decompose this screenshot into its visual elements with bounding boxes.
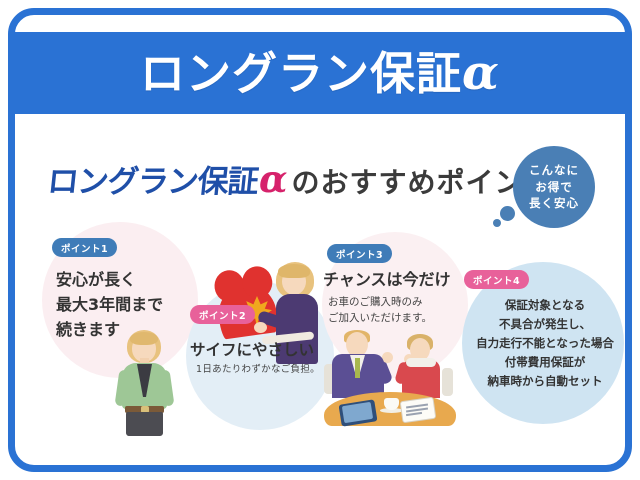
- skirt-shape: [126, 412, 163, 436]
- header-title: ロングラン保証α: [140, 49, 500, 97]
- point-4-badge: ポイント4: [464, 270, 529, 289]
- man-tie-shape: [355, 358, 360, 378]
- point-4-line-3: 自力走行不能となった場合: [470, 334, 620, 353]
- woman-scarf-shape: [406, 358, 436, 367]
- page-title-brand: ロングラン保証: [46, 156, 261, 201]
- header-band: ロングラン保証α: [15, 32, 625, 114]
- point-1-line-2: 最大3年間まで: [56, 293, 163, 318]
- point-2-subtext: 1日あたりわずかなご負担。: [196, 364, 320, 376]
- point-4-line-2: 不具合が発生し、: [470, 315, 620, 334]
- illustration-woman-green-cardigan: [108, 330, 180, 440]
- point-4-text-block: 保証対象となる 不具合が発生し、 自力走行不能となった場合 付帯費用保証が 納車…: [470, 296, 620, 391]
- point-2-heading: サイフにやさしい: [190, 340, 314, 360]
- page-title: ロングラン保証 α のおすすめポイント: [48, 156, 553, 201]
- hair-fringe-icon: [130, 332, 158, 345]
- point-3-heading: チャンスは今だけ: [323, 270, 451, 291]
- point-3-subtext-line-1: お車のご購入時のみ: [328, 294, 432, 310]
- speech-bubble-line-1: こんなに: [529, 162, 579, 179]
- point-4-line-1: 保証対象となる: [470, 296, 620, 315]
- point-3-subtext: お車のご購入時のみ ご加入いただけます。: [328, 294, 432, 327]
- header-title-alpha: α: [462, 45, 500, 101]
- point-4-line-4: 付帯費用保証が: [470, 353, 620, 372]
- speech-bubble-tail-large: [500, 206, 515, 221]
- point-4-line-5: 納車時から自動セット: [470, 372, 620, 391]
- point-1-line-1: 安心が長く: [56, 268, 163, 293]
- header-title-main: ロングラン保証: [140, 47, 462, 100]
- illustration-sales-consultation: [318, 330, 462, 428]
- point-1-badge: ポイント1: [52, 238, 117, 257]
- speech-bubble: こんなに お得で 長く安心: [513, 146, 595, 228]
- hand-shape: [254, 322, 267, 333]
- page-title-alpha: α: [259, 157, 287, 201]
- speech-bubble-line-2: お得で: [535, 179, 573, 196]
- advertisement-banner: ロングラン保証α ロングラン保証 α のおすすめポイント こんなに お得で 長く…: [0, 0, 640, 480]
- chair-right-shape: [442, 368, 453, 396]
- point-2-badge: ポイント2: [190, 305, 255, 324]
- point-3-badge: ポイント3: [327, 244, 392, 263]
- speech-bubble-line-3: 長く安心: [529, 195, 579, 212]
- speech-bubble-tail-small: [493, 219, 501, 227]
- hair-fringe-icon: [278, 264, 310, 278]
- point-3-subtext-line-2: ご加入いただけます。: [328, 310, 432, 326]
